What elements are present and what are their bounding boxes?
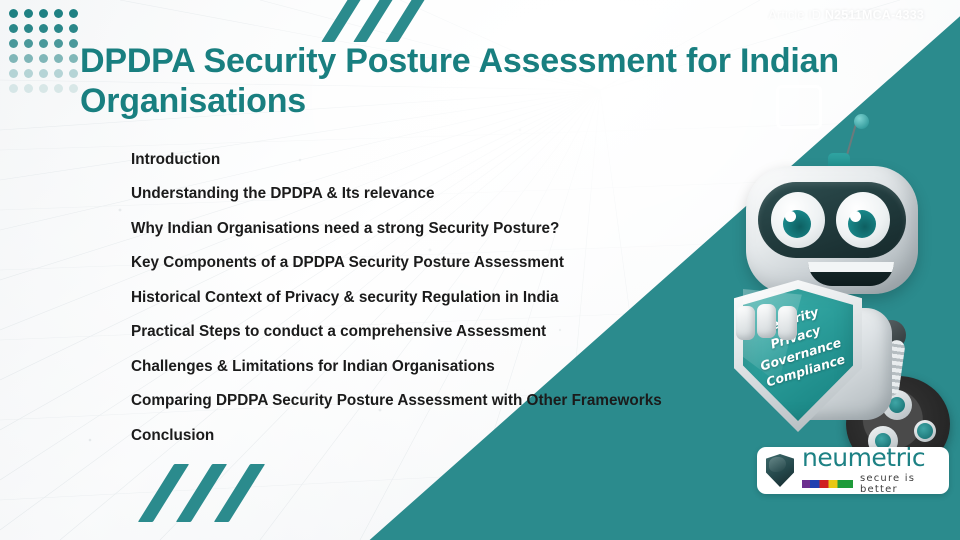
robot-eye-left <box>771 192 825 248</box>
list-item: Understanding the DPDPA & Its relevance <box>131 186 791 201</box>
list-item: Key Components of a DPDPA Security Postu… <box>131 255 791 270</box>
dot-grid-decoration <box>6 6 81 96</box>
article-id-label: Article ID <box>768 8 821 22</box>
robot-head <box>746 166 918 294</box>
agenda-list: Introduction Understanding the DPDPA & I… <box>91 152 791 462</box>
list-item: Introduction <box>131 152 791 167</box>
list-item: Conclusion <box>131 428 791 443</box>
article-id-value: N2511MCA-4333 <box>825 8 924 22</box>
logo-name: neumetric <box>802 446 940 470</box>
robot-teeth <box>808 262 894 272</box>
list-item: Comparing DPDPA Security Posture Assessm… <box>131 393 791 408</box>
neumetric-logo[interactable]: neumetric secure is better <box>757 447 949 494</box>
robot-eye-right <box>836 192 890 248</box>
robot-mascot: Security Privacy Governance Compliance <box>718 108 960 448</box>
robot-finger <box>778 306 797 340</box>
security-shield: Security Privacy Governance Compliance <box>734 280 862 432</box>
diagonal-stripes-bottom <box>150 466 270 522</box>
list-item: Practical Steps to conduct a comprehensi… <box>131 324 791 339</box>
robot-pupil <box>848 210 876 238</box>
robot-finger <box>757 304 776 338</box>
article-id: Article ID N2511MCA-4333 <box>768 8 924 22</box>
list-item: Why Indian Organisations need a strong S… <box>131 221 791 236</box>
shield-logo-icon <box>766 454 794 487</box>
robot-finger <box>736 306 755 340</box>
slide-canvas: Article ID N2511MCA-4333 DPDPA Security … <box>0 0 960 540</box>
diagonal-stripes-top <box>325 0 445 42</box>
robot-visor <box>758 182 906 258</box>
logo-tagline: secure is better <box>860 473 940 495</box>
logo-subline: secure is better <box>802 473 940 495</box>
list-item: Challenges & Limitations for Indian Orga… <box>131 359 791 374</box>
wheel-hub <box>914 420 936 442</box>
logo-text-block: neumetric secure is better <box>802 446 940 495</box>
antenna-ball-icon <box>854 114 869 129</box>
rainbow-bar-icon <box>802 480 853 488</box>
list-item: Historical Context of Privacy & security… <box>131 290 791 305</box>
robot-pupil <box>783 210 811 238</box>
